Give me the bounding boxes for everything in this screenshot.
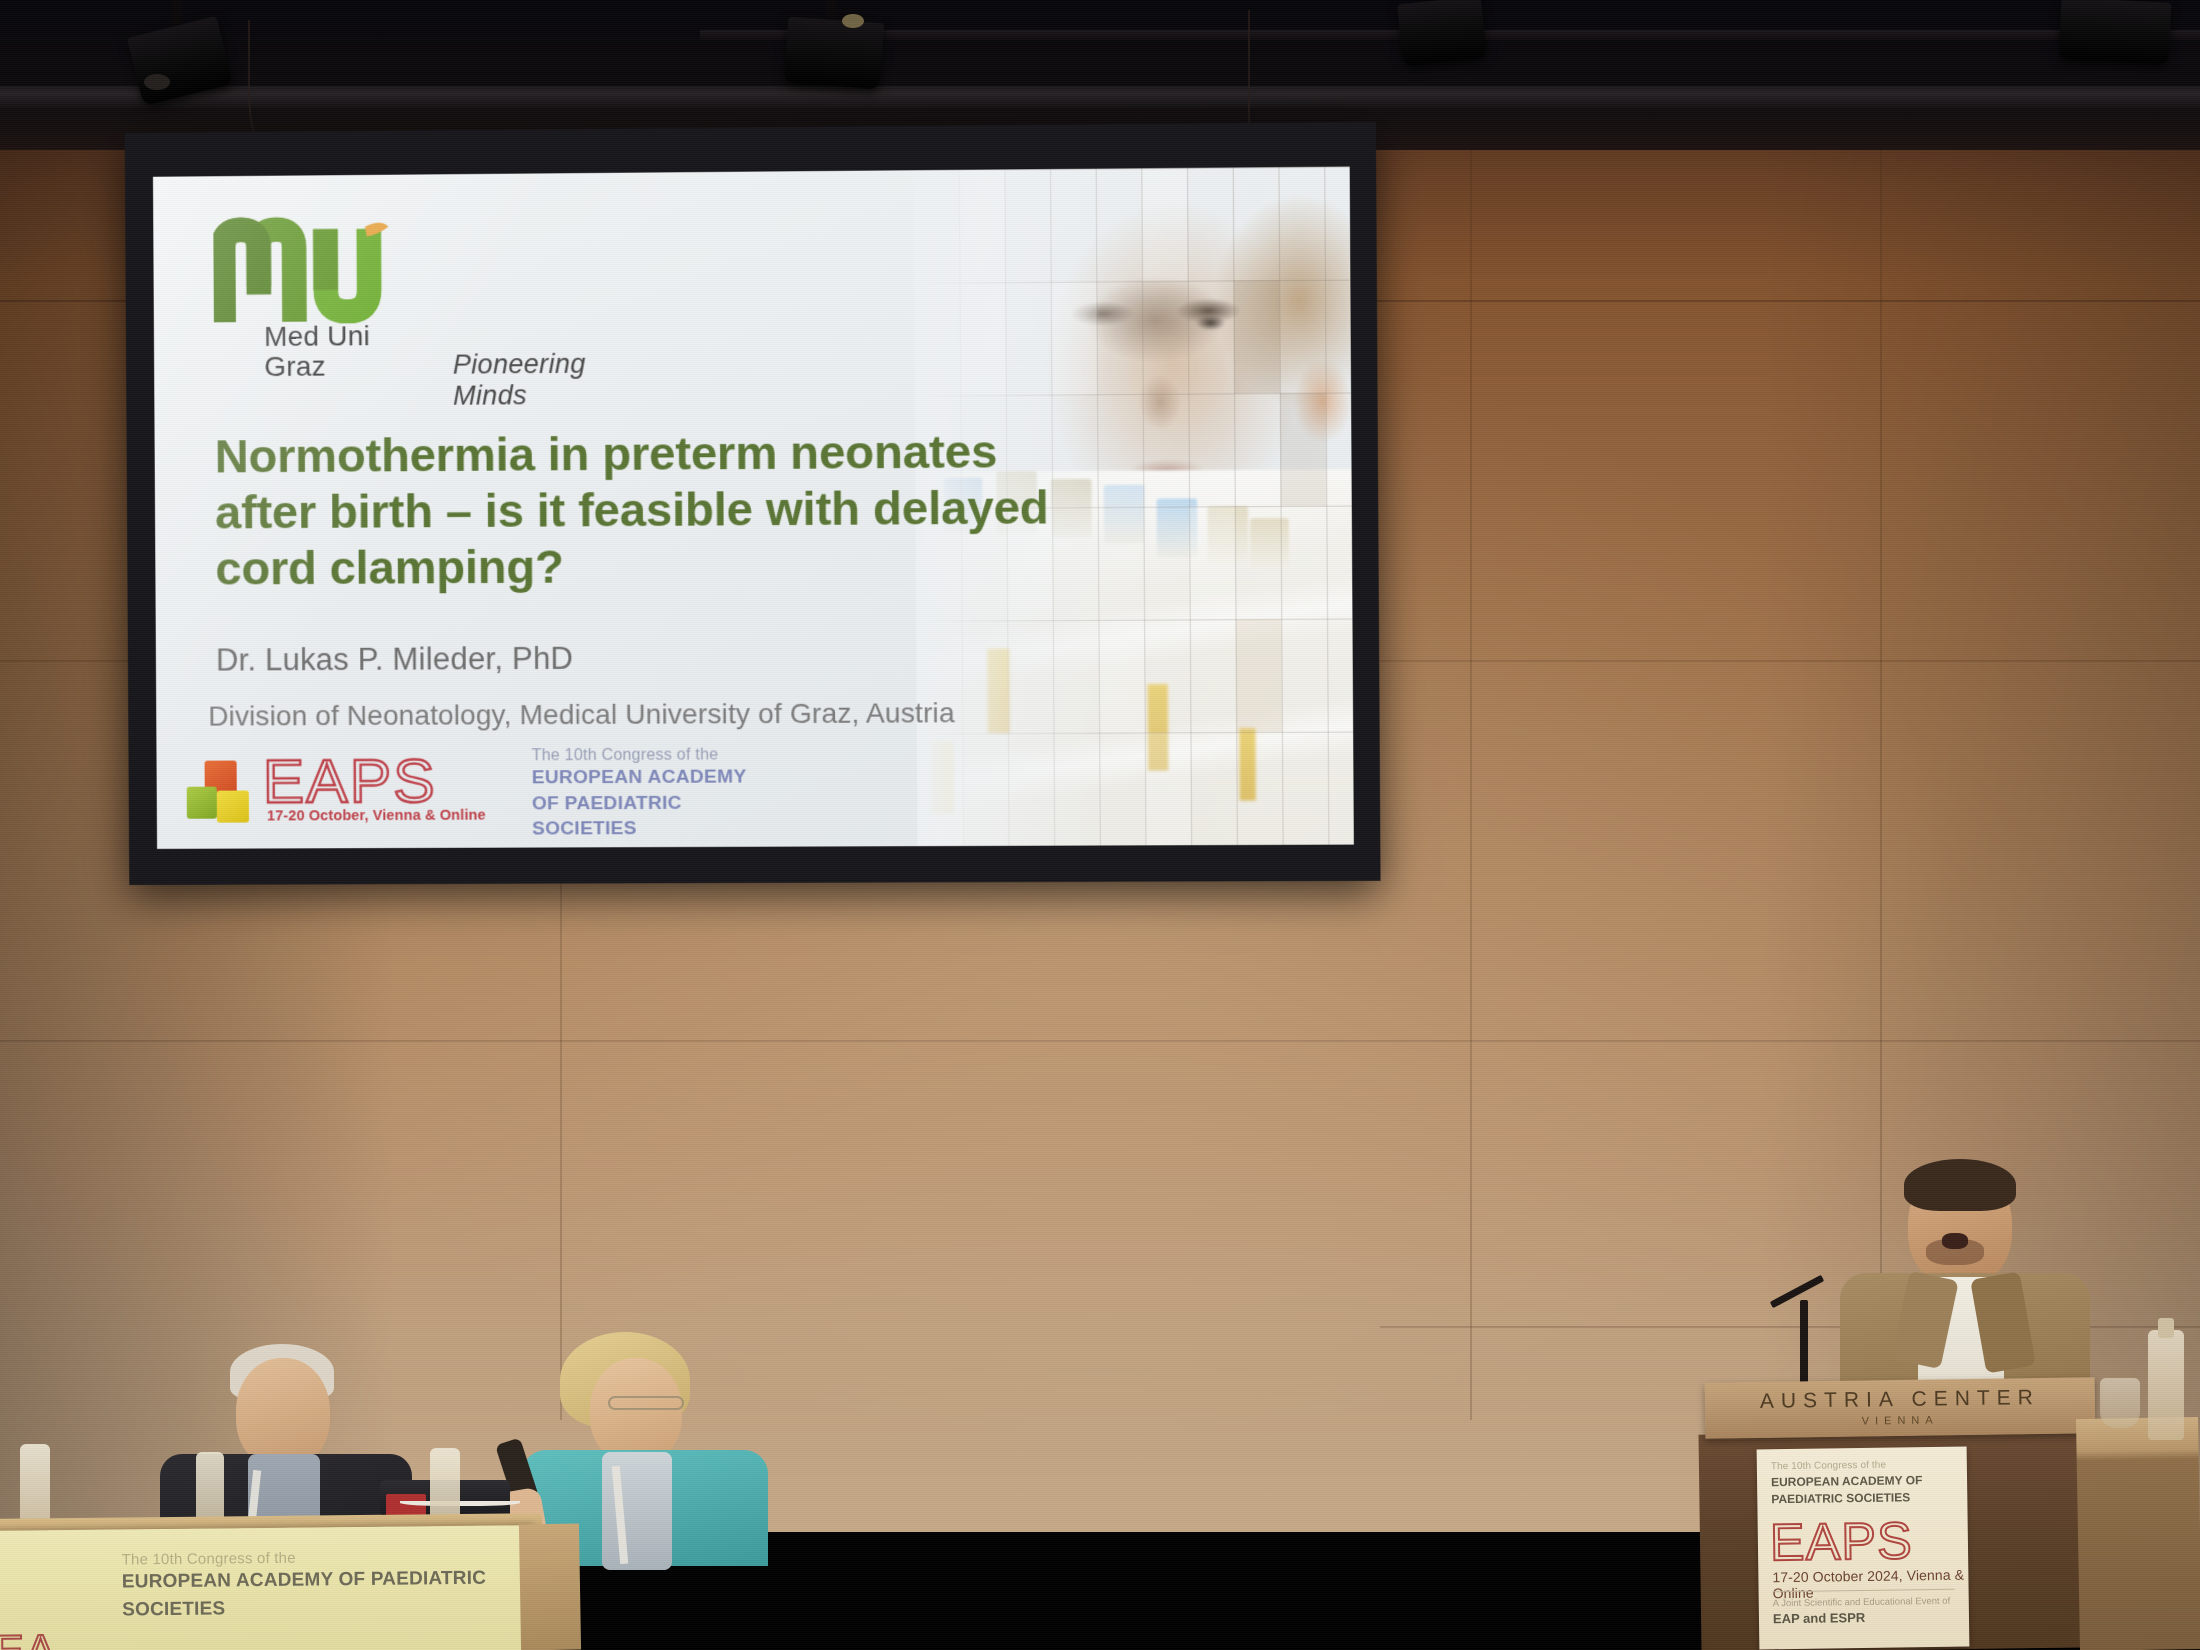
panel-banner-eaps-acronym: EA <box>0 1626 58 1650</box>
panel-banner-text: The 10th Congress of the EUROPEAN ACADEM… <box>122 1547 523 1623</box>
stage-light-icon <box>2060 0 2180 72</box>
desk-side-panel <box>519 1523 581 1650</box>
slide-author: Dr. Lukas P. Mileder, PhD <box>216 641 573 679</box>
venue-sign-line-2: VIENNA <box>1705 1412 2095 1429</box>
panelist-right-head <box>590 1358 682 1464</box>
eaps-dates: 17-20 October, Vienna & Online <box>267 808 486 825</box>
title-line-1: Normothermia in preterm neonates <box>215 423 1072 485</box>
mu-logo-icon <box>213 213 424 325</box>
ceiling-truss <box>0 86 2200 108</box>
stage-light-icon <box>120 0 240 105</box>
panel-banner-academy-line-1: EUROPEAN ACADEMY OF PAEDIATRIC <box>122 1564 522 1596</box>
title-line-3: cord clamping? <box>215 535 1072 596</box>
venue-sign-line-1: AUSTRIA CENTER <box>1705 1385 2095 1414</box>
eyeglasses-icon <box>608 1396 684 1410</box>
stage-light-icon <box>1400 0 1490 70</box>
water-glass <box>2100 1378 2140 1428</box>
slide-title: Normothermia in preterm neonates after b… <box>215 423 1072 597</box>
banner-joint-line: A Joint Scientific and Educational Event… <box>1773 1596 1951 1609</box>
presentation-slide: Med UniGraz Pioneering Minds Normothermi… <box>153 167 1354 849</box>
title-line-2: after birth – is it feasible with delaye… <box>215 479 1072 540</box>
eaps-congress-line: The 10th Congress of the <box>532 746 784 765</box>
mu-logo-name: Med UniGraz <box>264 321 370 382</box>
speaker-mouth <box>1942 1233 1968 1249</box>
banner-congress-line: The 10th Congress of the <box>1771 1460 1886 1473</box>
speaker-hair <box>1904 1159 2016 1211</box>
panel-banner-academy-line-2: SOCIETIES <box>122 1592 522 1624</box>
slide-affiliation: Division of Neonatology, Medical Univers… <box>208 697 955 733</box>
bottle-cap <box>2158 1318 2174 1338</box>
cable <box>400 1498 520 1506</box>
projection-screen: Med UniGraz Pioneering Minds Normothermi… <box>125 122 1381 885</box>
banner-academy-line: EUROPEAN ACADEMY OF PAEDIATRIC SOCIETIES <box>1771 1472 1957 1508</box>
eaps-acronym: EAPS <box>263 746 437 818</box>
venue-sign: AUSTRIA CENTER VIENNA <box>1705 1377 2096 1438</box>
side-table <box>2076 1417 2200 1650</box>
eaps-cubes-icon <box>187 760 259 822</box>
eaps-logo: EAPS 17-20 October, Vienna & Online The … <box>170 740 733 834</box>
water-bottle <box>20 1444 50 1530</box>
panelist-right-person <box>520 1340 760 1555</box>
eaps-academy-line-1: EUROPEAN ACADEMY <box>532 764 784 791</box>
banner-eaps-acronym: EAPS <box>1770 1511 1914 1573</box>
lectern-eaps-banner: The 10th Congress of the EUROPEAN ACADEM… <box>1757 1447 1970 1650</box>
med-uni-graz-logo: Med UniGraz Pioneering Minds <box>213 212 535 385</box>
water-bottle <box>2148 1330 2184 1440</box>
cable <box>248 20 278 140</box>
eaps-academy-text: The 10th Congress of the EUROPEAN ACADEM… <box>532 746 784 842</box>
panelist-left-head <box>236 1358 330 1468</box>
slide-surface: Med UniGraz Pioneering Minds Normothermi… <box>153 167 1354 849</box>
panel-table-banner: The 10th Congress of the EUROPEAN ACADEM… <box>0 1525 535 1650</box>
stage-light-icon <box>780 0 890 95</box>
eaps-academy-line-2: OF PAEDIATRIC SOCIETIES <box>532 790 784 842</box>
conference-hall-photo: Med UniGraz Pioneering Minds Normothermi… <box>0 0 2200 1650</box>
mu-logo-tagline: Pioneering Minds <box>453 349 586 412</box>
banner-organizers: EAP and ESPR <box>1773 1610 1865 1626</box>
